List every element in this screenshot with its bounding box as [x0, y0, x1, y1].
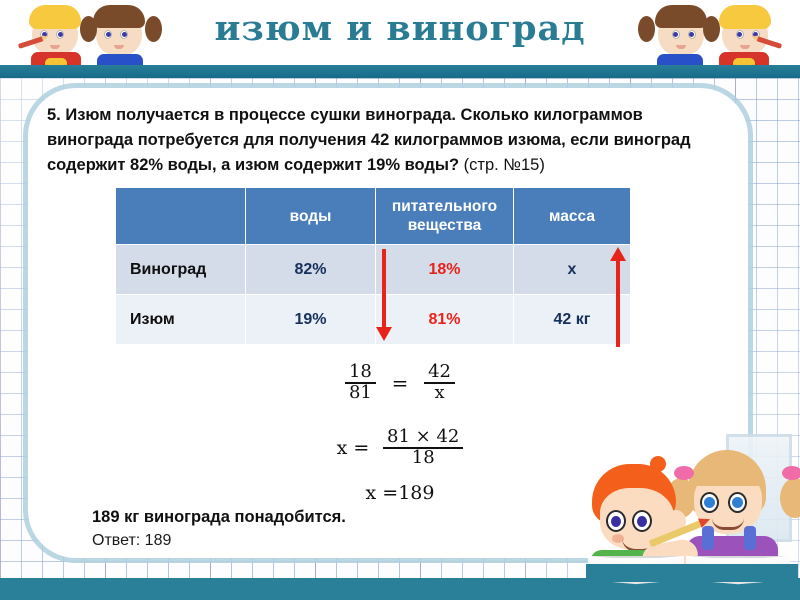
table-header-water: воды: [246, 188, 376, 245]
fraction-right-numerator: 42: [424, 363, 455, 382]
row-label-grapes: Виноград: [116, 245, 246, 295]
slide-canvas: изюм и виноград: [0, 0, 800, 600]
top-left-kids-icon: [6, 2, 176, 68]
problem-reference: (стр. №15): [464, 156, 545, 174]
red-down-arrow-icon: [376, 249, 392, 341]
problem-number: 5.: [47, 106, 61, 124]
problem-text: Изюм получается в процессе сушки виногра…: [47, 106, 691, 174]
table-header-row: воды питательного вещества масса: [116, 188, 631, 245]
row-label-raisins: Изюм: [116, 295, 246, 345]
fraction-right: 42 x: [424, 363, 455, 403]
fraction-solution: 81 × 42 18: [383, 428, 463, 468]
composition-table: воды питательного вещества масса Виногра…: [115, 187, 631, 345]
solution-numerator: 81 × 42: [383, 428, 463, 447]
conclusion-statement: 189 кг винограда понадобится.: [92, 508, 346, 527]
desk-surface: [586, 564, 798, 582]
fraction-left: 18 81: [345, 363, 376, 403]
brunette-girl-icon: [84, 4, 158, 68]
raisins-nutrient-value: 81%: [376, 295, 514, 345]
table-header-nutrient: питательного вещества: [376, 188, 514, 245]
red-up-arrow-icon: [610, 247, 626, 347]
reading-kids-illustration: [586, 432, 798, 582]
equation-lhs: x =: [337, 437, 378, 459]
header-divider-band: [0, 65, 800, 78]
fraction-left-numerator: 18: [345, 363, 376, 382]
brunette-girl-icon-mirrored: [642, 4, 716, 68]
grapes-water-value: 82%: [246, 245, 376, 295]
top-right-kids-icon: [624, 2, 794, 68]
table-row: Виноград 82% 18% x: [116, 245, 631, 295]
problem-statement: 5. Изюм получается в процессе сушки вино…: [47, 103, 697, 178]
table-header-corner: [116, 188, 246, 245]
grapes-nutrient-value: 18%: [376, 245, 514, 295]
raisins-water-value: 19%: [246, 295, 376, 345]
equation-proportion: 18 81 = 42 x: [0, 363, 800, 403]
answer-line: Ответ: 189: [92, 532, 171, 550]
table-row: Изюм 19% 81% 42 кг: [116, 295, 631, 345]
slide-header: изюм и виноград: [0, 0, 800, 65]
fraction-left-denominator: 81: [345, 382, 376, 403]
solution-denominator: 18: [383, 447, 463, 468]
table-header-mass: масса: [514, 188, 631, 245]
fraction-right-denominator: x: [424, 382, 455, 403]
equals-sign: =: [382, 371, 419, 395]
